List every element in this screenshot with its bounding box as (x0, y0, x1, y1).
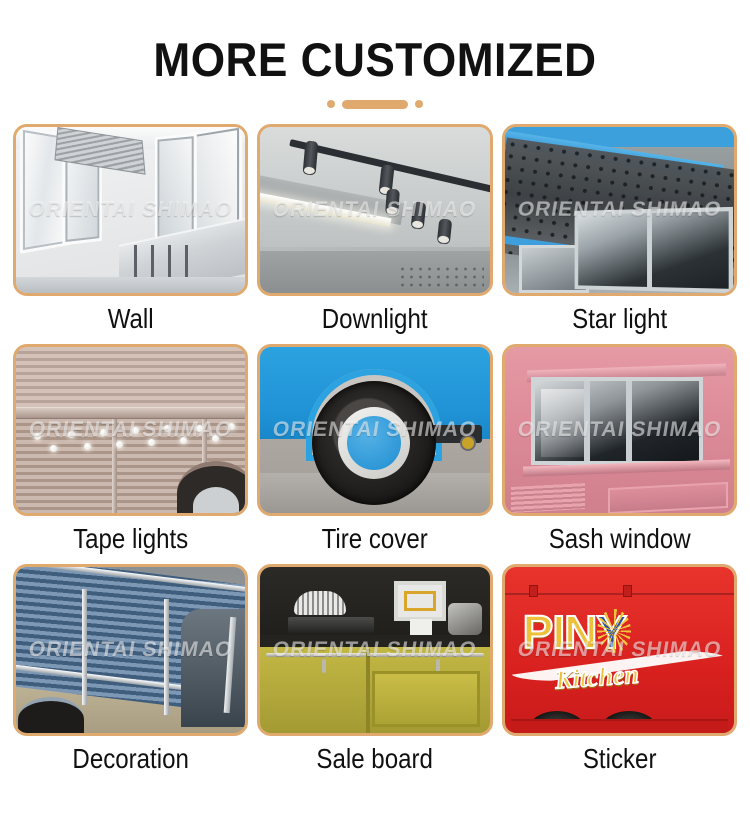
card-tape-lights[interactable]: ORIENTAI SHIMAO (13, 344, 248, 516)
photo-star-light (505, 127, 734, 293)
page-title: MORE CUSTOMIZED (23, 34, 728, 86)
photo-decoration (16, 567, 245, 733)
divider-dot-left-icon (327, 100, 335, 108)
feature-grid: ORIENTAI SHIMAO Wall ORIENTAI SHIMAO Dow… (0, 124, 750, 784)
card-tire-cover[interactable]: ORIENTAI SHIMAO (257, 344, 492, 516)
caption-sticker: Sticker (518, 736, 720, 784)
card-sticker[interactable]: PINY Kitchen ORIENTAI SHIMAO (502, 564, 737, 736)
photo-sale-board (260, 567, 489, 733)
card-downlight[interactable]: ORIENTAI SHIMAO (257, 124, 492, 296)
caption-sale-board: Sale board (274, 736, 476, 784)
page-root: MORE CUSTOMIZED ORIENTAI SHIMAO Wall (0, 0, 750, 814)
grid-cell-tire-cover: ORIENTAI SHIMAO Tire cover (257, 344, 492, 564)
grid-cell-downlight: ORIENTAI SHIMAO Downlight (257, 124, 492, 344)
photo-downlight (260, 127, 489, 293)
card-decoration[interactable]: ORIENTAI SHIMAO (13, 564, 248, 736)
caption-star-light: Star light (518, 296, 720, 344)
grid-cell-decoration: ORIENTAI SHIMAO Decoration (13, 564, 248, 784)
photo-tape-lights (16, 347, 245, 513)
card-sale-board[interactable]: ORIENTAI SHIMAO (257, 564, 492, 736)
grid-cell-sash-window: ORIENTAI SHIMAO Sash window (502, 344, 737, 564)
page-header: MORE CUSTOMIZED (0, 0, 750, 110)
caption-sash-window: Sash window (518, 516, 720, 564)
photo-wall (16, 127, 245, 293)
grid-cell-star-light: ORIENTAI SHIMAO Star light (502, 124, 737, 344)
divider-bar-icon (342, 100, 408, 109)
decorative-divider (0, 98, 750, 110)
sun-emblem-icon (597, 609, 631, 653)
caption-wall: Wall (29, 296, 231, 344)
caption-decoration: Decoration (29, 736, 231, 784)
grid-cell-sticker: PINY Kitchen ORIENTAI SHIMAO Sticker (502, 564, 737, 784)
caption-downlight: Downlight (274, 296, 476, 344)
photo-sash-window (505, 347, 734, 513)
grid-cell-wall: ORIENTAI SHIMAO Wall (13, 124, 248, 344)
card-sash-window[interactable]: ORIENTAI SHIMAO (502, 344, 737, 516)
divider-dot-right-icon (415, 100, 423, 108)
photo-sticker: PINY Kitchen (505, 567, 734, 733)
card-wall[interactable]: ORIENTAI SHIMAO (13, 124, 248, 296)
grid-cell-tape-lights: ORIENTAI SHIMAO Tape lights (13, 344, 248, 564)
grid-cell-sale-board: ORIENTAI SHIMAO Sale board (257, 564, 492, 784)
caption-tire-cover: Tire cover (274, 516, 476, 564)
caption-tape-lights: Tape lights (29, 516, 231, 564)
card-star-light[interactable]: ORIENTAI SHIMAO (502, 124, 737, 296)
photo-tire-cover (260, 347, 489, 513)
